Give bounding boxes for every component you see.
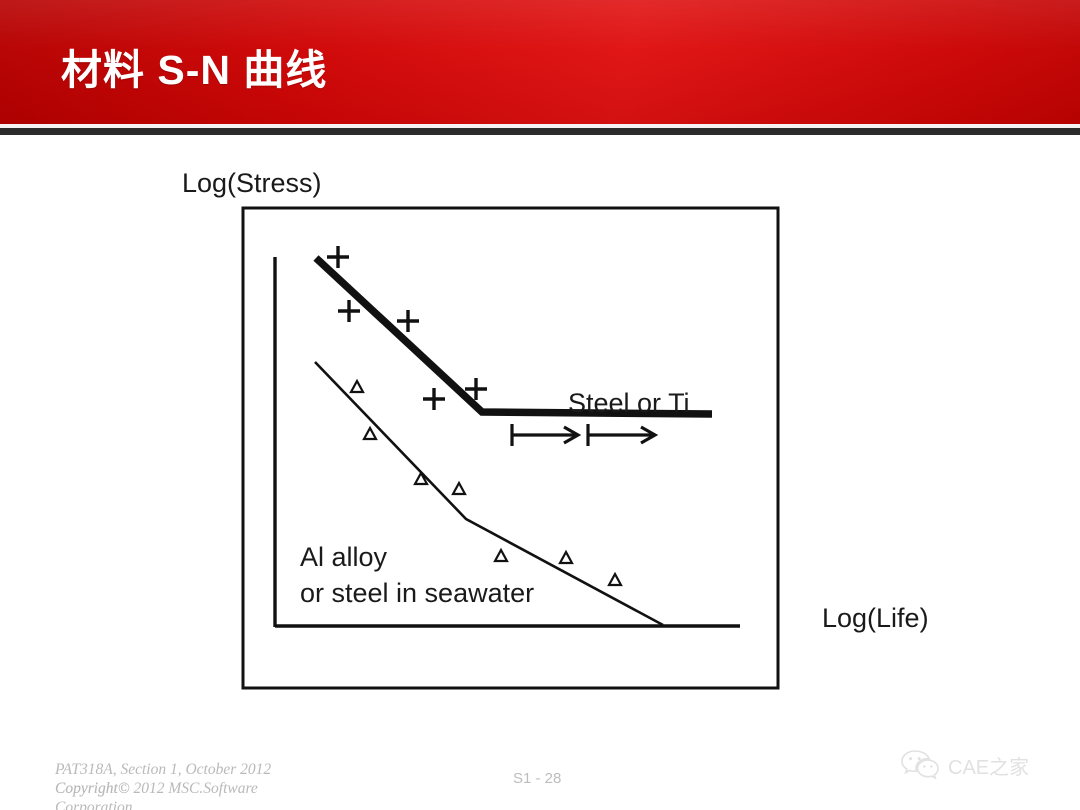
- marker-triangle: [351, 381, 363, 392]
- plot-frame: [243, 208, 778, 688]
- marker-triangle: [560, 552, 572, 563]
- marker-triangle: [453, 483, 465, 494]
- watermark-label: CAE之家: [948, 751, 1029, 780]
- page-number: S1 - 28: [513, 770, 561, 787]
- watermark: CAE之家: [900, 748, 1029, 782]
- marker-plus: [397, 310, 419, 332]
- markers-plus-steel: [327, 246, 487, 410]
- marker-triangle: [495, 550, 507, 561]
- runout-arrow: [512, 424, 578, 446]
- footer-line-copyright-overlap: Copyright© 2012 MSC.Software Copyright©: [55, 779, 475, 798]
- series-label-steel: Steel or Ti: [568, 388, 690, 418]
- footer-copyright-ghost: Copyright©: [55, 779, 130, 798]
- series-label-al-line2: or steel in seawater: [300, 578, 534, 608]
- footer-line-course: PAT318A, Section 1, October 2012: [55, 760, 475, 779]
- marker-plus: [327, 246, 349, 268]
- series-label-al-line1: Al alloy: [300, 542, 388, 572]
- sn-curve-figure: Log(Stress) Log(Life) Steel or Ti Al all…: [0, 135, 1080, 735]
- footer-credits: PAT318A, Section 1, October 2012 Copyrig…: [55, 760, 475, 810]
- marker-plus: [338, 300, 360, 322]
- runout-arrow: [588, 424, 655, 446]
- page-title: 材料 S-N 曲线: [61, 36, 327, 96]
- sn-curve-svg: Log(Stress) Log(Life) Steel or Ti Al all…: [0, 135, 1080, 735]
- header-rule-dark: [0, 128, 1080, 135]
- marker-plus: [423, 388, 445, 410]
- slide-canvas: 材料 S-N 曲线: [0, 0, 1080, 810]
- runout-arrow-group: [512, 424, 655, 446]
- y-axis-title: Log(Stress): [182, 168, 322, 198]
- marker-triangle: [415, 473, 427, 484]
- wechat-icon: [900, 748, 940, 782]
- marker-triangle: [364, 428, 376, 439]
- footer-line-corporation: Corporation: [55, 798, 475, 810]
- marker-triangle: [609, 574, 621, 585]
- x-axis-title: Log(Life): [822, 603, 929, 633]
